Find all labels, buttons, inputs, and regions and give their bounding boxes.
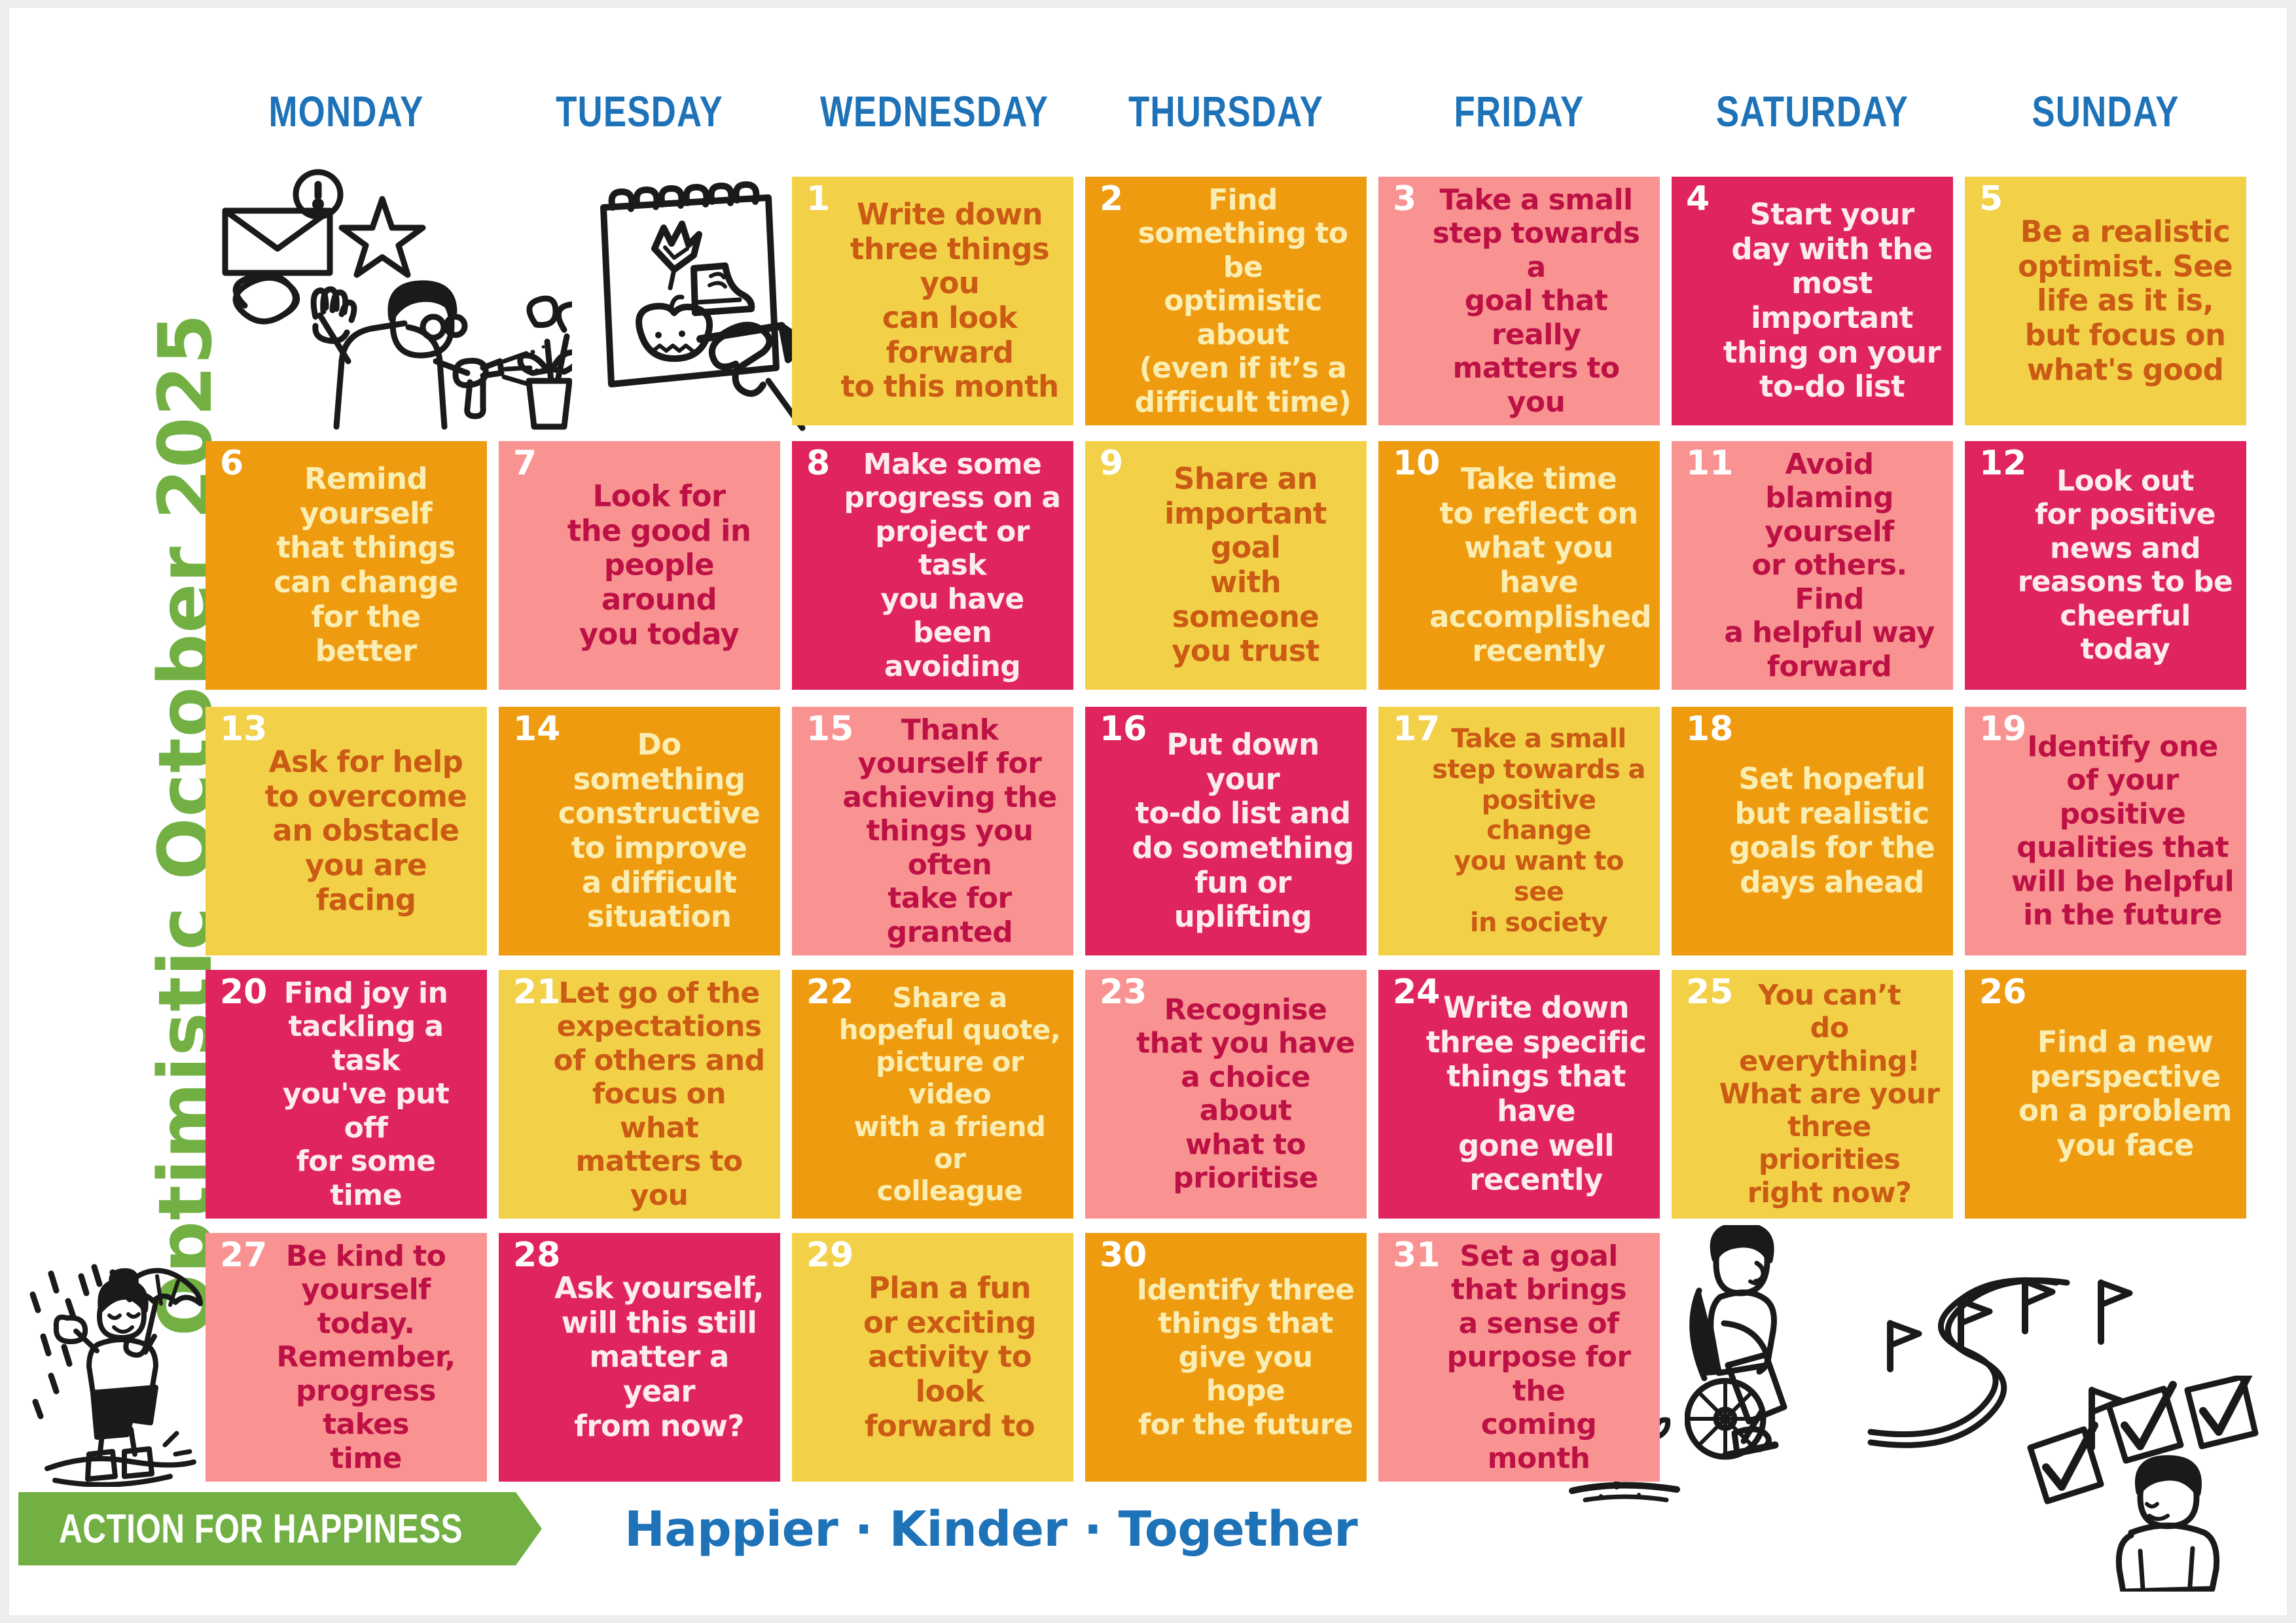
day-action-text: Thank yourself for achieving the things …	[792, 713, 1067, 949]
day-cell-17[interactable]: 17Take a small step towards a positive c…	[1378, 707, 1660, 955]
day-action-text: Be kind to yourself today. Remember, pro…	[206, 1240, 480, 1475]
day-cell-11[interactable]: 11Avoid blaming yourself or others. Find…	[1672, 441, 1953, 690]
day-action-text: Set a goal that brings a sense of purpos…	[1378, 1240, 1653, 1475]
day-number: 30	[1100, 1238, 1147, 1272]
day-action-text: Write down three specific things that ha…	[1378, 991, 1653, 1198]
day-cell-2[interactable]: 2Find something to be optimistic about (…	[1085, 177, 1367, 425]
day-action-text: Find a new perspective on a problem you …	[1965, 1026, 2240, 1164]
day-cell-31[interactable]: 31Set a goal that brings a sense of purp…	[1378, 1233, 1660, 1482]
day-header-monday: MONDAY	[234, 86, 459, 136]
day-header-friday: FRIDAY	[1407, 86, 1632, 136]
day-cell-18[interactable]: 18Set hopeful but realistic goals for th…	[1672, 707, 1953, 955]
winding-path-with-flags-illustration	[1861, 1251, 2176, 1474]
day-cell-5[interactable]: 5Be a realistic optimist. See life as it…	[1965, 177, 2246, 425]
day-action-text: Identify three things that give you hope…	[1085, 1273, 1360, 1441]
day-action-text: Avoid blaming yourself or others. Find a…	[1672, 448, 1946, 683]
day-cell-9[interactable]: 9Share an important goal with someone yo…	[1085, 441, 1367, 690]
day-action-text: Write down three things you can look for…	[792, 198, 1067, 404]
day-cell-27[interactable]: 27Be kind to yourself today. Remember, p…	[206, 1233, 487, 1482]
day-cell-25[interactable]: 25You can’t do everything! What are your…	[1672, 970, 1953, 1219]
day-cell-29[interactable]: 29Plan a fun or exciting activity to loo…	[792, 1233, 1073, 1482]
day-number: 18	[1686, 712, 1733, 746]
day-header-sunday: SUNDAY	[1993, 86, 2218, 136]
day-cell-21[interactable]: 21Let go of the expectations of others a…	[499, 970, 780, 1219]
day-cell-3[interactable]: 3Take a small step towards a goal that r…	[1378, 177, 1660, 425]
day-cell-15[interactable]: 15Thank yourself for achieving the thing…	[792, 707, 1073, 955]
day-action-text: Ask yourself, will this still matter a y…	[499, 1271, 774, 1443]
day-action-text: Ask for help to overcome an obstacle you…	[206, 745, 480, 917]
day-action-text: Recognise that you have a choice about w…	[1085, 993, 1360, 1196]
day-cell-22[interactable]: 22Share a hopeful quote, picture or vide…	[792, 970, 1073, 1219]
day-number: 5	[1979, 182, 2003, 216]
day-action-text: Make some progress on a project or task …	[792, 448, 1067, 683]
day-action-text: Find something to be optimistic about (e…	[1085, 183, 1360, 419]
day-number: 28	[513, 1238, 560, 1272]
day-action-text: Take a small step towards a positive cha…	[1378, 724, 1653, 938]
day-action-text: Let go of the expectations of others and…	[499, 976, 774, 1212]
day-action-text: Look for the good in people around you t…	[499, 479, 774, 651]
day-header-saturday: SATURDAY	[1700, 86, 1925, 136]
day-cell-28[interactable]: 28Ask yourself, will this still matter a…	[499, 1233, 780, 1482]
day-action-text: Take a small step towards a goal that re…	[1378, 183, 1653, 419]
footer: ACTION FOR HAPPINESS Happier · Kinder · …	[9, 1492, 2287, 1571]
day-header-tuesday: TUESDAY	[527, 86, 752, 136]
day-cell-12[interactable]: 12Look out for positive news and reasons…	[1965, 441, 2246, 690]
day-cell-30[interactable]: 30Identify three things that give you ho…	[1085, 1233, 1367, 1482]
day-cell-4[interactable]: 4Start your day with the most important …	[1672, 177, 1953, 425]
day-action-text: Put down your to-do list and do somethin…	[1085, 728, 1360, 935]
day-action-text: Do something constructive to improve a d…	[499, 728, 774, 935]
envelope-star-person-spraying-plant-illustration	[206, 165, 572, 440]
day-action-text: Remind yourself that things can change f…	[206, 462, 480, 669]
day-header-thursday: THURSDAY	[1113, 86, 1338, 136]
day-cell-7[interactable]: 7Look for the good in people around you …	[499, 441, 780, 690]
day-cell-6[interactable]: 6Remind yourself that things can change …	[206, 441, 487, 690]
day-cell-20[interactable]: 20Find joy in tackling a task you've put…	[206, 970, 487, 1219]
banner-label: ACTION FOR HAPPINESS	[59, 1506, 463, 1552]
day-header-wednesday: WEDNESDAY	[820, 86, 1045, 136]
day-cell-16[interactable]: 16Put down your to-do list and do someth…	[1085, 707, 1367, 955]
day-number: 7	[513, 446, 537, 480]
day-cell-24[interactable]: 24Write down three specific things that …	[1378, 970, 1660, 1219]
day-action-text: Find joy in tackling a task you've put o…	[206, 976, 480, 1212]
day-action-text: Look out for positive news and reasons t…	[1965, 465, 2240, 667]
day-action-text: Identify one of your positive qualities …	[1965, 730, 2240, 933]
person-wheelchair-illustration	[1685, 1225, 1901, 1480]
action-for-happiness-banner[interactable]: ACTION FOR HAPPINESS	[18, 1492, 542, 1565]
day-cell-10[interactable]: 10Take time to reflect on what you have …	[1378, 441, 1660, 690]
footer-tagline: Happier · Kinder · Together	[624, 1501, 1357, 1558]
day-action-text: You can’t do everything! What are your t…	[1672, 979, 1946, 1209]
day-number: 13	[220, 712, 267, 746]
day-cell-8[interactable]: 8Make some progress on a project or task…	[792, 441, 1073, 690]
day-cell-1[interactable]: 1Write down three things you can look fo…	[792, 177, 1073, 425]
day-action-text: Share a hopeful quote, picture or video …	[792, 982, 1067, 1207]
day-action-text: Plan a fun or exciting activity to look …	[792, 1271, 1067, 1443]
calendar-title-area: Optimistic October 2025	[9, 106, 206, 1349]
day-action-text: Set hopeful but realistic goals for the …	[1672, 762, 1946, 901]
day-action-text: Start your day with the most important t…	[1672, 198, 1946, 404]
day-cell-14[interactable]: 14Do something constructive to improve a…	[499, 707, 780, 955]
day-number: 26	[1979, 975, 2026, 1009]
day-action-text: Share an important goal with someone you…	[1085, 462, 1360, 669]
day-cell-13[interactable]: 13Ask for help to overcome an obstacle y…	[206, 707, 487, 955]
day-number: 29	[806, 1238, 853, 1272]
day-cell-23[interactable]: 23Recognise that you have a choice about…	[1085, 970, 1367, 1219]
calendar-page: Optimistic October 2025 MONDAYTUESDAYWED…	[9, 8, 2287, 1615]
day-action-text: Be a realistic optimist. See life as it …	[1965, 215, 2240, 387]
day-action-text: Take time to reflect on what you have ac…	[1378, 462, 1653, 669]
day-cell-19[interactable]: 19Identify one of your positive qualitie…	[1965, 707, 2246, 955]
day-cell-26[interactable]: 26Find a new perspective on a problem yo…	[1965, 970, 2246, 1219]
